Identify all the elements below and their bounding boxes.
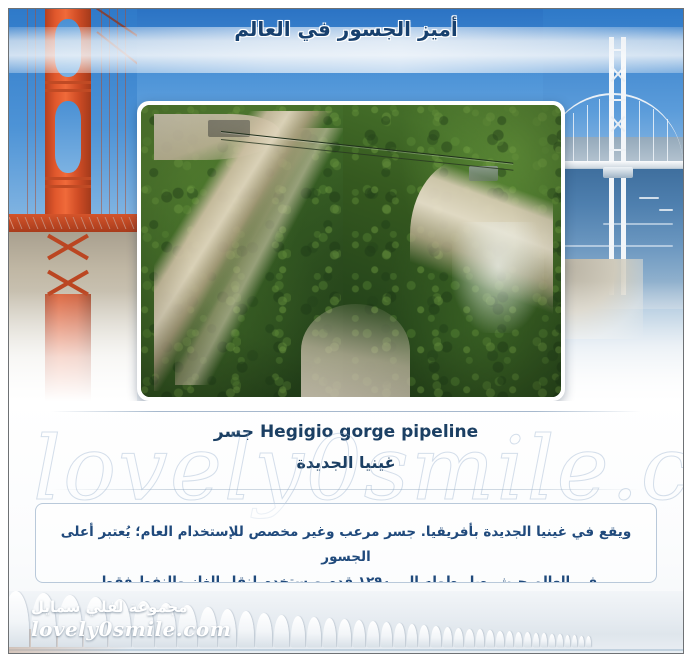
description-textbox: ويقع في غينيا الجديدة بأفريقيا. جسر مرعب…: [35, 503, 657, 583]
caption-location: غينيا الجديدة: [9, 450, 683, 476]
caption-arabic-prefix: جسر: [214, 422, 254, 442]
lower-panel: Hegigio gorge pipeline جسر غينيا الجديدة…: [9, 401, 683, 653]
description-text: ويقع في غينيا الجديدة بأفريقيا. جسر مرعب…: [50, 520, 642, 583]
caption-block: Hegigio gorge pipeline جسر غينيا الجديدة: [9, 419, 683, 476]
caption-latin-name: Hegigio gorge pipeline: [260, 422, 478, 442]
outer-frame: أميز الجسور في العالم: [8, 8, 684, 654]
caption-divider-top: [51, 411, 641, 412]
page-title: أميز الجسور في العالم: [9, 17, 683, 41]
hero-scene: أميز الجسور في العالم: [9, 9, 683, 401]
bridge-railing-image: [9, 591, 683, 653]
ak-pier: [603, 167, 633, 178]
caption-main-line: Hegigio gorge pipeline جسر: [9, 419, 683, 445]
gg-truss: [9, 217, 137, 229]
poster-page: أميز الجسور في العالم: [0, 0, 692, 662]
gorge-photo: [141, 105, 561, 397]
gg-fade: [9, 291, 137, 401]
gorge-photo-frame: [137, 101, 565, 401]
photo-vignette: [141, 105, 561, 397]
description-line-2: في العالم حيث يصل طوله إلى ١٢٩٠ قدم ويست…: [95, 574, 598, 583]
caption-divider-bottom: [51, 489, 641, 490]
description-line-1: ويقع في غينيا الجديدة بأفريقيا. جسر مرعب…: [61, 524, 631, 565]
